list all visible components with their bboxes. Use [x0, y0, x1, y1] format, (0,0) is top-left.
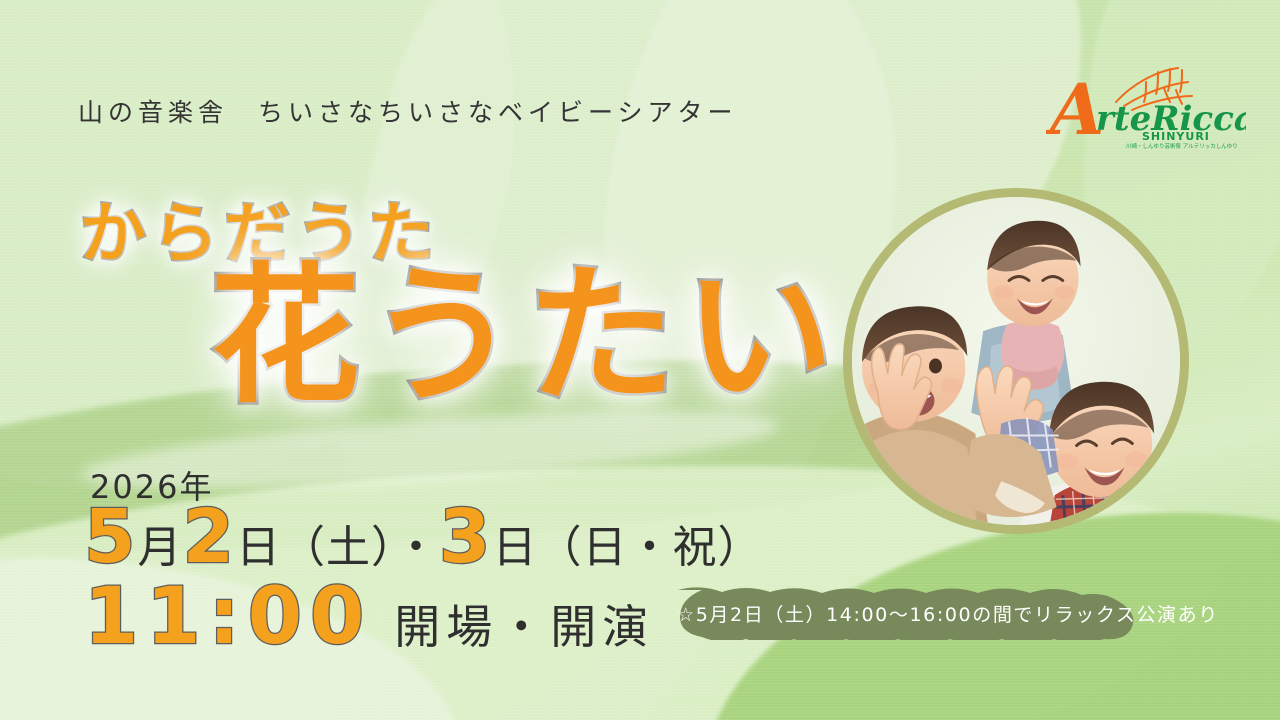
babies-photo — [852, 197, 1180, 525]
time-value: 11:00 — [84, 578, 372, 656]
arte-ricca-logo: A rteRicca SHINYURI 川崎・しんゆり芸術祭 アルテリッカしんゆ… — [1046, 58, 1246, 150]
date-day2-label: 日（日・祝） — [493, 526, 763, 570]
relax-performance-banner: ☆5月2日（土）14:00〜16:00の間でリラックス公演あり — [648, 586, 1248, 640]
svg-text:川崎・しんゆり芸術祭 アルテリッカしんゆり: 川崎・しんゆり芸術祭 アルテリッカしんゆり — [1126, 142, 1238, 150]
main-title-hanautai: 花うたい — [210, 262, 842, 412]
performance-date-row: 5 月 2 日（土）・ 3 日（日・祝） — [84, 500, 763, 574]
time-label: 開場・開演 — [394, 604, 654, 650]
relax-banner-text: ☆5月2日（土）14:00〜16:00の間でリラックス公演あり — [648, 586, 1248, 640]
date-day2-number: 3 — [439, 500, 493, 574]
header-line: 山の音楽舎 ちいさなちいさなベイビーシアター — [78, 93, 738, 129]
date-day1-label: 日（土）・ — [236, 526, 439, 570]
poster-canvas: 山の音楽舎 ちいさなちいさなベイビーシアター A rteRicca SHINYU… — [0, 0, 1280, 720]
date-month-label: 月 — [138, 526, 183, 570]
svg-text:SHINYURI: SHINYURI — [1142, 130, 1210, 143]
performance-time-row: 11:00 開場・開演 — [84, 578, 654, 656]
photo-circle-frame — [843, 188, 1189, 534]
date-month-number: 5 — [84, 500, 138, 574]
date-day1-number: 2 — [183, 500, 237, 574]
